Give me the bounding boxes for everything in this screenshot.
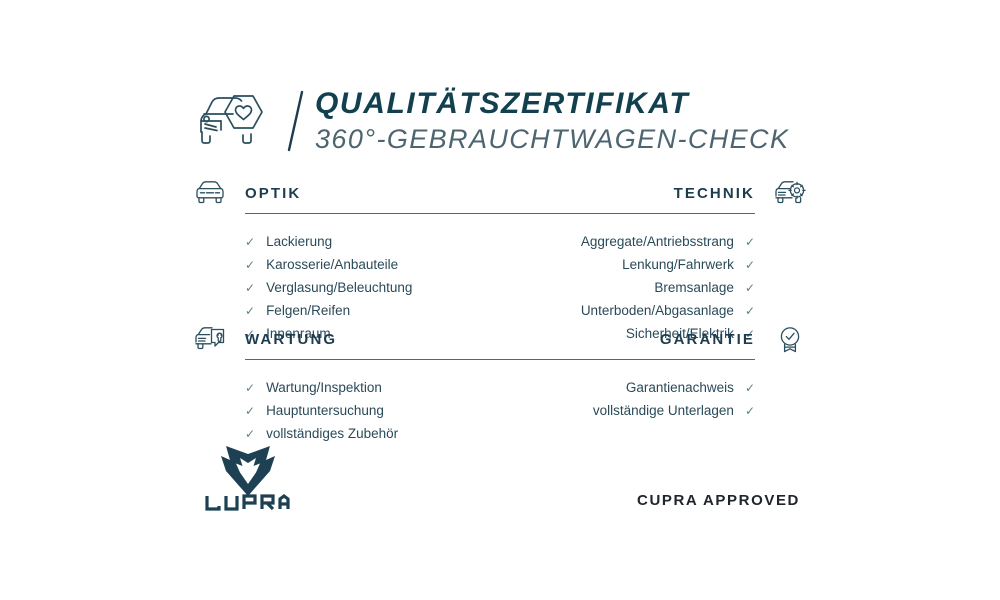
list-item-label: Karosserie/Anbauteile <box>266 258 398 272</box>
section-title-technik: TECHNIK <box>674 185 755 202</box>
check-icon: ✓ <box>245 428 255 440</box>
header-titles: QUALITÄTSZERTIFIKAT 360°-GEBRAUCHTWAGEN-… <box>315 87 789 155</box>
check-icon: ✓ <box>745 282 755 294</box>
list-item-label: Lenkung/Fahrwerk <box>622 258 734 272</box>
list-item: ✓ vollständiges Zubehör <box>245 424 523 443</box>
check-icon: ✓ <box>245 236 255 248</box>
section-header-technik: TECHNIK <box>477 178 807 208</box>
list-item-label: Garantienachweis <box>626 381 734 395</box>
check-icon: ✓ <box>745 382 755 394</box>
cupra-logo <box>196 444 300 516</box>
list-item-label: vollständiges Zubehör <box>266 427 398 441</box>
section-title-garantie: GARANTIE <box>660 331 755 348</box>
list-item-label: vollständige Unterlagen <box>593 404 734 418</box>
page-title: QUALITÄTSZERTIFIKAT <box>315 87 789 121</box>
section-wartung: WARTUNG ✓ Wartung/Inspektion ✓ Hauptunte… <box>193 324 523 447</box>
list-item: ✓ Bremsanlage <box>477 278 755 297</box>
list-item: ✓ Garantienachweis <box>477 378 755 397</box>
car-shield-heart-icon <box>193 88 267 154</box>
car-wrench-icon <box>193 325 227 353</box>
list-item-label: Bremsanlage <box>654 281 734 295</box>
list-item-label: Unterboden/Abgasanlage <box>581 304 734 318</box>
section-rule-technik <box>477 213 755 214</box>
check-icon: ✓ <box>745 236 755 248</box>
page-subtitle: 360°-GEBRAUCHTWAGEN-CHECK <box>315 123 789 155</box>
badge-check-icon <box>773 325 807 353</box>
section-header-garantie: GARANTIE <box>477 324 807 354</box>
list-item-label: Lackierung <box>266 235 332 249</box>
cupra-approved-label: CUPRA APPROVED <box>560 492 800 509</box>
section-rule-garantie <box>477 359 755 360</box>
list-item-label: Verglasung/Beleuchtung <box>266 281 412 295</box>
section-garantie: GARANTIE ✓ Garantienachweis ✓ vollständi… <box>477 324 807 424</box>
list-item: ✓ Lenkung/Fahrwerk <box>477 255 755 274</box>
check-icon: ✓ <box>245 382 255 394</box>
check-icon: ✓ <box>745 405 755 417</box>
list-item-label: Hauptuntersuchung <box>266 404 384 418</box>
car-gear-icon <box>773 179 807 207</box>
list-item-label: Wartung/Inspektion <box>266 381 382 395</box>
section-title-optik: OPTIK <box>245 185 301 202</box>
list-item: ✓ vollständige Unterlagen <box>477 401 755 420</box>
slash-divider <box>283 90 309 152</box>
check-icon: ✓ <box>245 405 255 417</box>
section-optik: OPTIK ✓ Lackierung ✓ Karosserie/Anbautei… <box>193 178 523 347</box>
section-title-wartung: WARTUNG <box>245 331 337 348</box>
check-icon: ✓ <box>745 259 755 271</box>
certificate-header: QUALITÄTSZERTIFIKAT 360°-GEBRAUCHTWAGEN-… <box>193 78 813 164</box>
check-icon: ✓ <box>245 259 255 271</box>
check-icon: ✓ <box>245 305 255 317</box>
section-header-optik: OPTIK <box>193 178 523 208</box>
list-item-label: Felgen/Reifen <box>266 304 350 318</box>
check-icon: ✓ <box>745 305 755 317</box>
list-item-label: Aggregate/Antriebsstrang <box>581 235 734 249</box>
car-front-icon <box>193 179 227 207</box>
checklist-garantie: ✓ Garantienachweis ✓ vollständige Unterl… <box>477 378 755 420</box>
list-item: ✓ Unterboden/Abgasanlage <box>477 301 755 320</box>
section-technik: TECHNIK ✓ <box>477 178 807 347</box>
certificate-page: QUALITÄTSZERTIFIKAT 360°-GEBRAUCHTWAGEN-… <box>0 0 1000 600</box>
check-icon: ✓ <box>245 282 255 294</box>
list-item: ✓ Aggregate/Antriebsstrang <box>477 232 755 251</box>
section-header-wartung: WARTUNG <box>193 324 523 354</box>
